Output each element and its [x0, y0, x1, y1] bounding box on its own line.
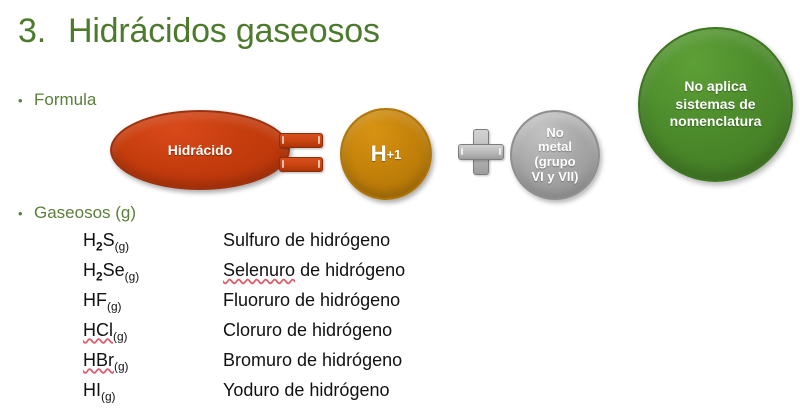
shape-hidracido-label: Hidrácido — [168, 142, 233, 158]
table-row: H2S(g)Sulfuro de hidrógeno — [83, 228, 405, 258]
compound-formula-core: HF — [83, 290, 107, 310]
table-row: HF(g)Fluoruro de hidrógeno — [83, 288, 405, 318]
plus-icon — [458, 129, 504, 175]
shape-nomenclature-line3: nomenclatura — [670, 113, 762, 130]
slide-canvas: 3.Hidrácidos gaseosos •Formula •Gaseosos… — [0, 0, 800, 414]
compound-formula-state: (g) — [115, 240, 130, 254]
compound-table: H2S(g)Sulfuro de hidrógenoH2Se(g)Selenur… — [83, 228, 405, 408]
compound-name: Yoduro de hidrógeno — [223, 378, 405, 408]
shape-hydrogen: H+1 — [340, 108, 432, 200]
compound-formula-state: (g) — [125, 270, 140, 284]
shape-nomenclature: No aplica sistemas de nomenclatura — [638, 27, 793, 182]
bullet-gaseosos: •Gaseosos (g) — [18, 203, 136, 223]
bullet-formula: •Formula — [18, 90, 96, 110]
compound-formula-core: HI — [83, 380, 101, 400]
compound-formula-prefix: H — [83, 230, 96, 250]
shape-nomenclature-line2: sistemas de — [670, 96, 762, 113]
compound-formula-state: (g) — [101, 389, 116, 403]
shape-nonmetal-line3: (grupo — [532, 155, 579, 170]
compound-formula: H2Se(g) — [83, 258, 223, 288]
compound-formula-subscript: 2 — [96, 240, 103, 254]
equals-icon — [279, 133, 323, 173]
equals-bar-top — [279, 133, 323, 148]
title-number: 3. — [18, 12, 46, 51]
compound-formula-core: H2S — [83, 230, 115, 250]
table-row: HCl(g)Cloruro de hidrógeno — [83, 318, 405, 348]
bullet-formula-label: Formula — [34, 90, 96, 109]
compound-table-body: H2S(g)Sulfuro de hidrógenoH2Se(g)Selenur… — [83, 228, 405, 408]
compound-name: Cloruro de hidrógeno — [223, 318, 405, 348]
compound-formula-state: (g) — [107, 300, 122, 314]
compound-formula-core: HBr — [83, 350, 114, 370]
compound-name: Sulfuro de hidrógeno — [223, 228, 405, 258]
compound-name: Fluoruro de hidrógeno — [223, 288, 405, 318]
compound-formula-element: S — [103, 230, 115, 250]
compound-name: Bromuro de hidrógeno — [223, 348, 405, 378]
shape-nomenclature-line1: No aplica — [670, 78, 762, 95]
compound-name-rest: de hidrógeno — [295, 260, 405, 280]
shape-hydrogen-symbol: H — [371, 141, 387, 167]
table-row: HBr(g)Bromuro de hidrógeno — [83, 348, 405, 378]
shape-nonmetal-line2: metal — [532, 140, 579, 155]
table-row: HI(g)Yoduro de hidrógeno — [83, 378, 405, 408]
compound-formula: HI(g) — [83, 378, 223, 408]
shape-hydrogen-charge: +1 — [387, 147, 402, 162]
table-row: H2Se(g)Selenuro de hidrógeno — [83, 258, 405, 288]
equals-bar-bottom — [279, 157, 323, 172]
compound-formula: HF(g) — [83, 288, 223, 318]
bullet-gaseosos-label: Gaseosos (g) — [34, 203, 136, 222]
compound-formula: HBr(g) — [83, 348, 223, 378]
shape-nonmetal-line1: No — [532, 126, 579, 141]
compound-formula-element: Se — [103, 260, 125, 280]
bullet-dot-icon: • — [18, 93, 27, 108]
compound-formula-prefix: HF — [83, 290, 107, 310]
compound-formula: HCl(g) — [83, 318, 223, 348]
compound-formula-core: HCl — [83, 320, 113, 340]
compound-formula-core: H2Se — [83, 260, 125, 280]
title-text: Hidrácidos gaseosos — [68, 12, 380, 50]
compound-formula-prefix: HCl — [83, 320, 113, 340]
plus-arm-horizontal — [458, 144, 504, 160]
shape-hidracido: Hidrácido — [110, 110, 290, 190]
compound-formula-prefix: HBr — [83, 350, 114, 370]
compound-name: Selenuro de hidrógeno — [223, 258, 405, 288]
compound-formula-prefix: HI — [83, 380, 101, 400]
compound-formula: H2S(g) — [83, 228, 223, 258]
compound-name-misspelled-word: Selenuro — [223, 260, 295, 280]
compound-formula-prefix: H — [83, 260, 96, 280]
compound-formula-state: (g) — [113, 330, 128, 344]
compound-formula-subscript: 2 — [96, 270, 103, 284]
bullet-dot-icon: • — [18, 206, 27, 221]
shape-nonmetal: No metal (grupo VI y VII) — [510, 110, 600, 200]
page-title: 3.Hidrácidos gaseosos — [18, 12, 380, 51]
compound-formula-state: (g) — [114, 359, 129, 373]
shape-nonmetal-line4: VI y VII) — [532, 170, 579, 185]
